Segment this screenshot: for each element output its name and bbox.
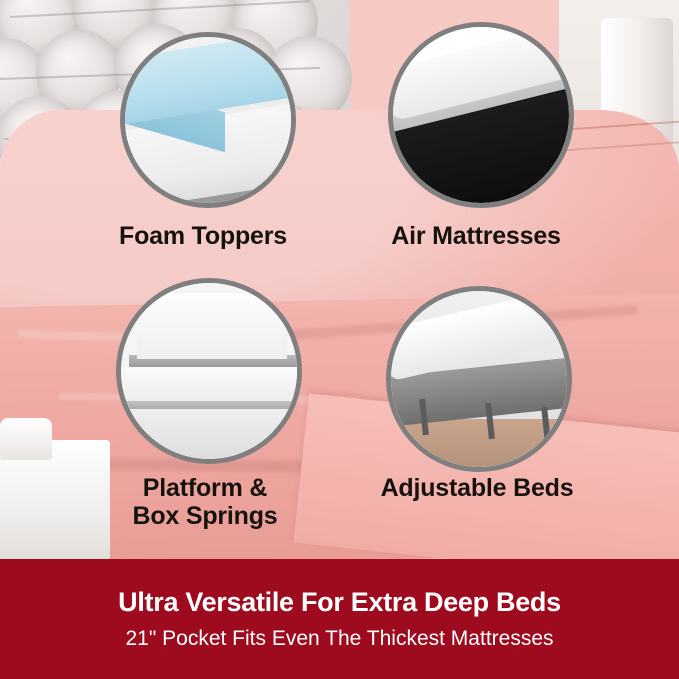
banner-subtitle: 21" Pocket Fits Even The Thickest Mattre… xyxy=(125,627,553,651)
callout-label-air-mattresses: Air Mattresses xyxy=(356,222,596,250)
callout-label-line-2: Box Springs xyxy=(92,502,318,530)
callout-label-foam-toppers: Foam Toppers xyxy=(88,222,318,250)
product-infographic: Foam Toppers Air Mattresses Platform & B… xyxy=(0,0,679,679)
callout-circle-platform-box-springs xyxy=(116,278,302,464)
stacked-cups xyxy=(0,418,52,460)
banner-title: Ultra Versatile For Extra Deep Beds xyxy=(118,587,561,618)
callout-label-platform-box-springs: Platform & Box Springs xyxy=(92,474,318,530)
bottom-banner: Ultra Versatile For Extra Deep Beds 21" … xyxy=(0,559,679,679)
callout-circle-foam-toppers xyxy=(120,32,296,208)
callout-circle-adjustable-beds xyxy=(386,286,572,472)
callout-label-line-1: Platform & xyxy=(92,474,318,502)
callout-circle-air-mattresses xyxy=(388,22,574,208)
callout-label-adjustable-beds: Adjustable Beds xyxy=(352,474,602,502)
